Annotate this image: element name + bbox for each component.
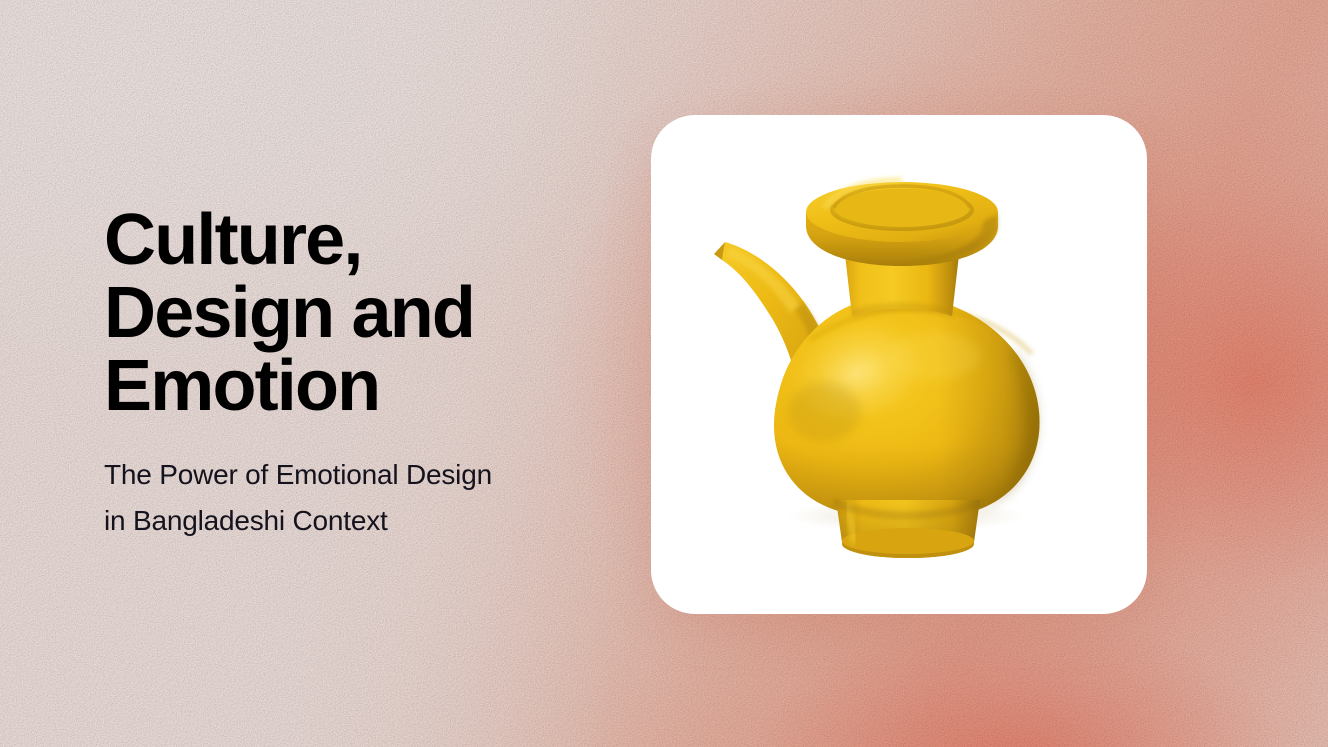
presentation-slide: Culture, Design and Emotion The Power of… — [0, 0, 1328, 747]
slide-text-block: Culture, Design and Emotion The Power of… — [104, 204, 574, 544]
illustration-card — [651, 115, 1147, 614]
teapot-foot-group — [834, 498, 982, 558]
teapot-icon — [684, 150, 1114, 580]
page-title: Culture, Design and Emotion — [104, 204, 574, 423]
teapot-rim-group — [806, 180, 998, 266]
page-subtitle: The Power of Emotional Design in Banglad… — [104, 423, 574, 544]
